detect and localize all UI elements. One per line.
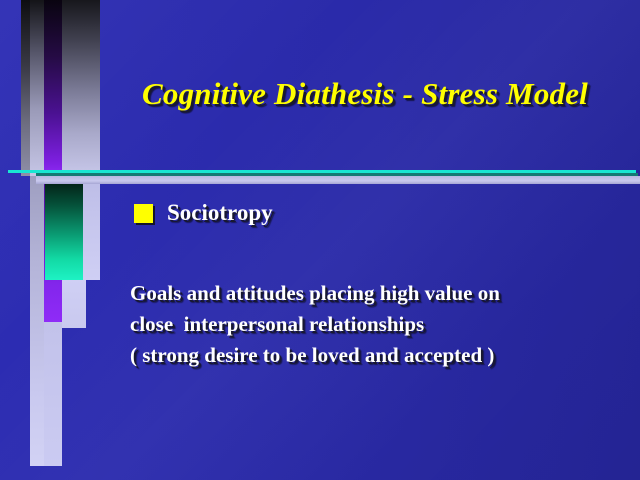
decorative-bar-teal — [45, 184, 83, 280]
presentation-slide: Cognitive Diathesis - Stress Model Socio… — [0, 0, 640, 480]
body-text-line-3: ( strong desire to be loved and accepted… — [130, 340, 630, 371]
decorative-sidebar — [0, 0, 110, 480]
body-text-line-2: close interpersonal relationships — [130, 309, 630, 340]
slide-title: Cognitive Diathesis - Stress Model — [110, 76, 620, 112]
bullet-item-sociotropy: Sociotropy — [134, 200, 273, 226]
decorative-bar-gray-upper — [21, 0, 30, 176]
body-text-block: Goals and attitudes placing high value o… — [130, 278, 630, 371]
divider-band — [36, 176, 640, 184]
decorative-bar-lavender-lower — [30, 176, 44, 466]
decorative-bar-wide-upper — [62, 0, 100, 176]
decorative-bar-lavender-upper — [30, 0, 44, 176]
square-bullet-icon — [134, 204, 153, 223]
body-text-line-1: Goals and attitudes placing high value o… — [130, 278, 630, 309]
decorative-bar-tail-lower — [44, 322, 62, 466]
decorative-bar-purple-upper — [44, 0, 62, 176]
decorative-bar-tail-upper — [62, 280, 86, 328]
bullet-item-label: Sociotropy — [167, 200, 273, 226]
